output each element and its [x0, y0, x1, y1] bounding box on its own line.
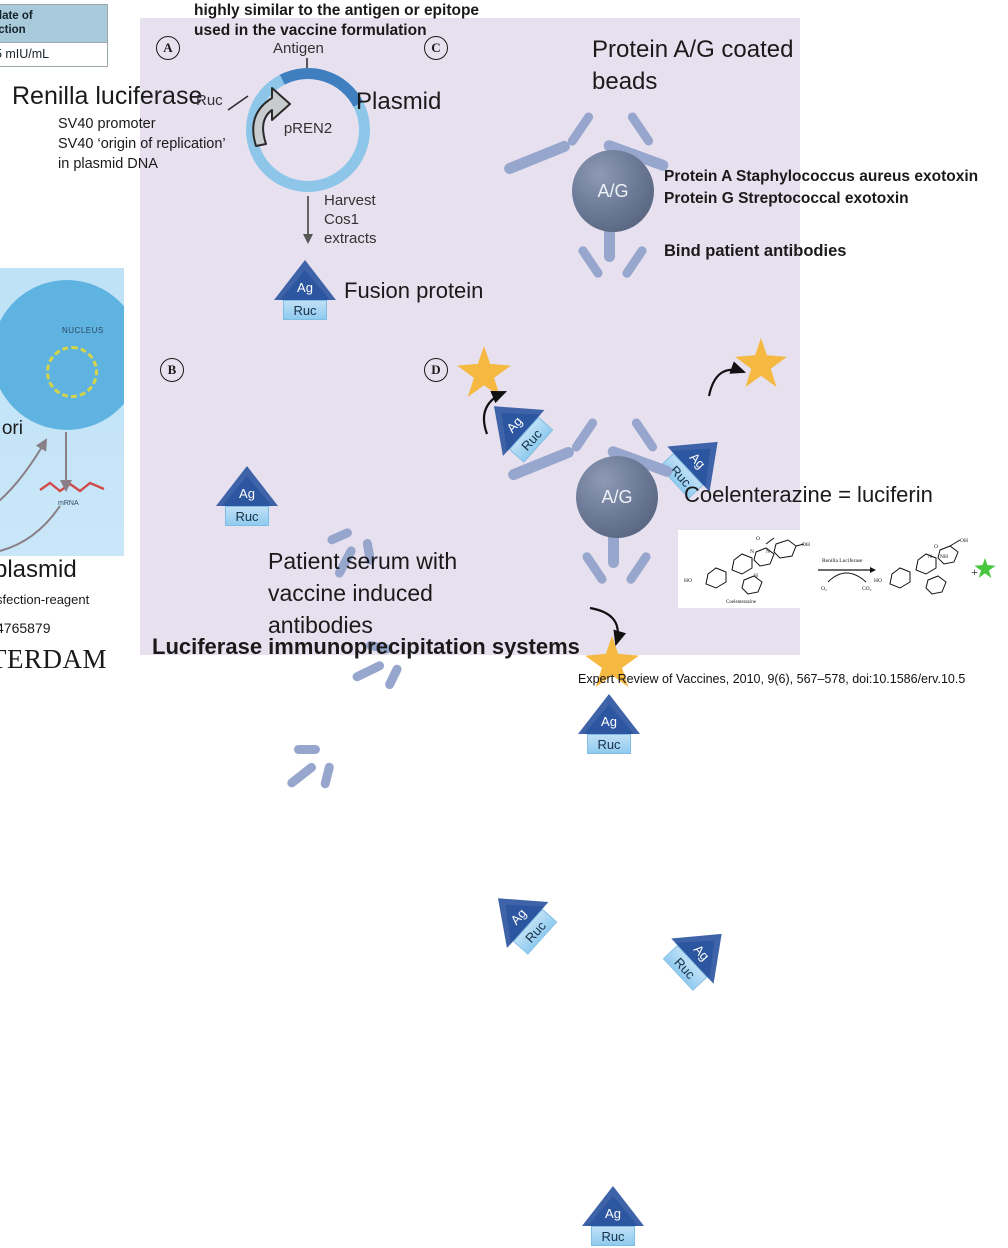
bead-label: A/G — [597, 181, 628, 202]
plasmid-dna-line: in plasmid DNA — [58, 156, 158, 173]
antigen-label: Antigen — [273, 40, 324, 58]
reaction-scheme-svg: HO OH N N H O Coelenterazine Renilla Luc… — [678, 530, 998, 608]
panel-b-caption-1: Patient serum with — [268, 548, 457, 575]
ruc-label: Ruc — [196, 92, 223, 110]
transfection-diagram-image: NUCLEUS mRNA slation — [0, 268, 124, 556]
harvest-line-2: Cos1 — [324, 211, 359, 229]
plasmid-title: Plasmid — [356, 88, 441, 116]
ag-label: Ag — [582, 1206, 644, 1221]
svg-text:O: O — [934, 544, 938, 550]
co2-label: CO₂ — [862, 586, 872, 592]
fusion-protein-glyph-d-right: Ag Ruc — [655, 911, 743, 999]
table-value-cell: 15 mIU/mL — [0, 43, 107, 66]
sv40-ori-line: SV40 ‘origin of replication’ — [58, 136, 226, 153]
ag-label: Ag — [274, 280, 336, 295]
ruc-box-label: Ruc — [225, 506, 269, 526]
panel-b-caption-2: vaccine induced — [268, 580, 433, 607]
ruc-insert-arrow-icon — [232, 80, 306, 156]
journal-citation: Expert Review of Vaccines, 2010, 9(6), 5… — [578, 672, 965, 687]
id-number-text: 4765879 — [0, 620, 51, 637]
fusion-protein-glyph-d-bottom: Ag Ruc — [582, 1186, 644, 1248]
svg-text:N: N — [928, 554, 932, 560]
protein-g-description: Protein G Streptococcal exotoxin — [664, 190, 909, 208]
ag-label: Ag — [578, 714, 640, 729]
svg-text:OH: OH — [802, 542, 810, 548]
svg-text:HO: HO — [684, 578, 692, 584]
transfection-reagent-text: sfection-reagent — [0, 592, 89, 607]
svg-text:OH: OH — [960, 538, 968, 544]
ruc-box-label: Ruc — [591, 1226, 635, 1246]
plasmid-word: plasmid — [0, 556, 77, 584]
protein-a-description: Protein A Staphylococcus aureus exotoxin — [664, 168, 978, 186]
harvest-line-3: extracts — [324, 230, 377, 248]
svg-text:O: O — [756, 536, 760, 542]
panel-c-heading-2: beads — [592, 68, 657, 96]
fusion-protein-glyph-d-left: Ag Ruc — [477, 875, 565, 963]
fusion-protein-glyph-a: Ag Ruc — [274, 260, 336, 322]
plasmid-diagram: pREN2 — [246, 68, 370, 192]
lis-title: Luciferase immunoprecipitation systems — [152, 634, 580, 660]
ag-label: Ag — [216, 486, 278, 501]
table-header: relate of tection — [0, 5, 107, 43]
panel-letter-c: C — [424, 36, 448, 60]
coelenterazine-reaction-image: HO OH N N H O Coelenterazine Renilla Luc… — [678, 530, 998, 608]
top-caption-line2: used in the vaccine formulation — [194, 22, 427, 40]
renilla-luciferase-heading: Renilla luciferase — [12, 82, 202, 112]
panel-letter-d: D — [424, 358, 448, 382]
sv40-ori-text: 0 ori — [0, 418, 23, 440]
bind-patient-antibodies-text: Bind patient antibodies — [664, 242, 846, 261]
fusion-protein-glyph-c-bottom: Ag Ruc — [578, 694, 640, 756]
svg-text:N: N — [750, 549, 754, 555]
free-antibody-3 — [268, 726, 352, 810]
svg-text:H: H — [754, 573, 758, 579]
bead-label: A/G — [601, 487, 632, 508]
sv40-promoter-line: SV40 promoter — [58, 116, 156, 133]
ruc-box-label: Ruc — [283, 300, 327, 320]
svg-text:NH: NH — [940, 554, 948, 560]
protein-ag-bead-d: A/G — [576, 456, 658, 538]
top-caption-line1: highly similar to the antigen or epitope — [194, 2, 479, 20]
coelenterazine-luciferin-text: Coelenterazine = luciferin — [684, 482, 933, 508]
panel-c-heading-1: Protein A/G coated — [592, 36, 793, 64]
university-wordmark: TERDAM — [0, 644, 107, 676]
substrate-label: Coelenterazine — [726, 600, 757, 605]
svg-text:HO: HO — [874, 578, 882, 584]
panel-letter-b: B — [160, 358, 184, 382]
protein-ag-bead-c: A/G — [572, 150, 654, 232]
harvest-line-1: Harvest — [324, 192, 376, 210]
o2-label: O₂ — [821, 586, 827, 592]
fusion-protein-glyph-b: Ag Ruc — [216, 466, 278, 528]
panel-letter-a: A — [156, 36, 180, 60]
fusion-protein-caption: Fusion protein — [344, 278, 483, 304]
transfect-arrows — [0, 268, 124, 556]
ruc-box-label: Ruc — [587, 734, 631, 754]
enzyme-label: Renilla Luciferase — [822, 557, 863, 564]
correlate-of-protection-table: relate of tection 15 mIU/mL — [0, 4, 108, 67]
svg-text:N: N — [766, 549, 770, 555]
